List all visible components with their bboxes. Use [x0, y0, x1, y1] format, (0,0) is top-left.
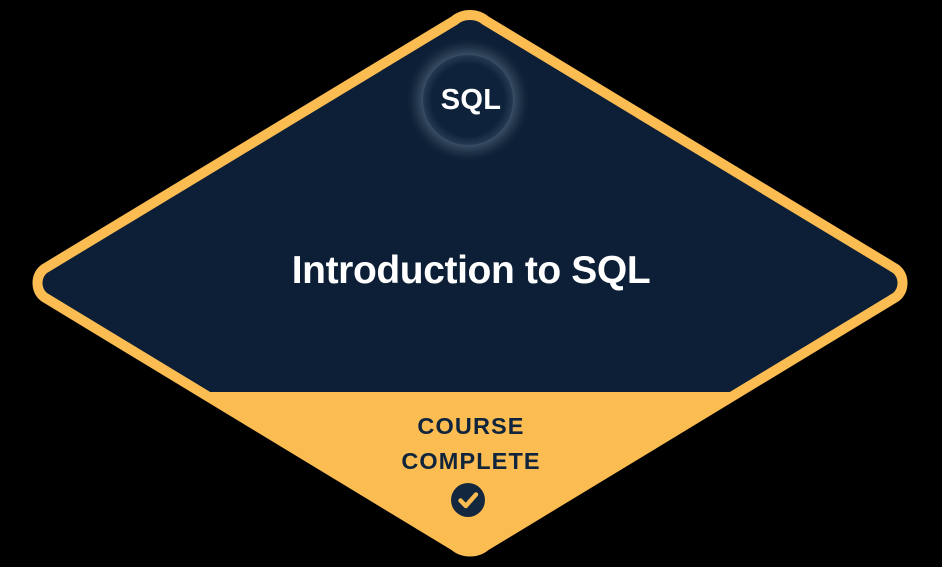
course-completion-badge[interactable]: SQL Introduction to SQL COURSE COMPLETE [0, 0, 942, 567]
status-line-complete: COMPLETE [0, 444, 942, 479]
check-circle-icon [451, 483, 485, 517]
course-complete-status: COURSE COMPLETE [0, 409, 942, 479]
status-line-course: COURSE [0, 409, 942, 444]
sql-medallion-label: SQL [0, 81, 942, 119]
course-title: Introduction to SQL [0, 246, 942, 296]
diamond-dark-panel [0, 0, 942, 392]
